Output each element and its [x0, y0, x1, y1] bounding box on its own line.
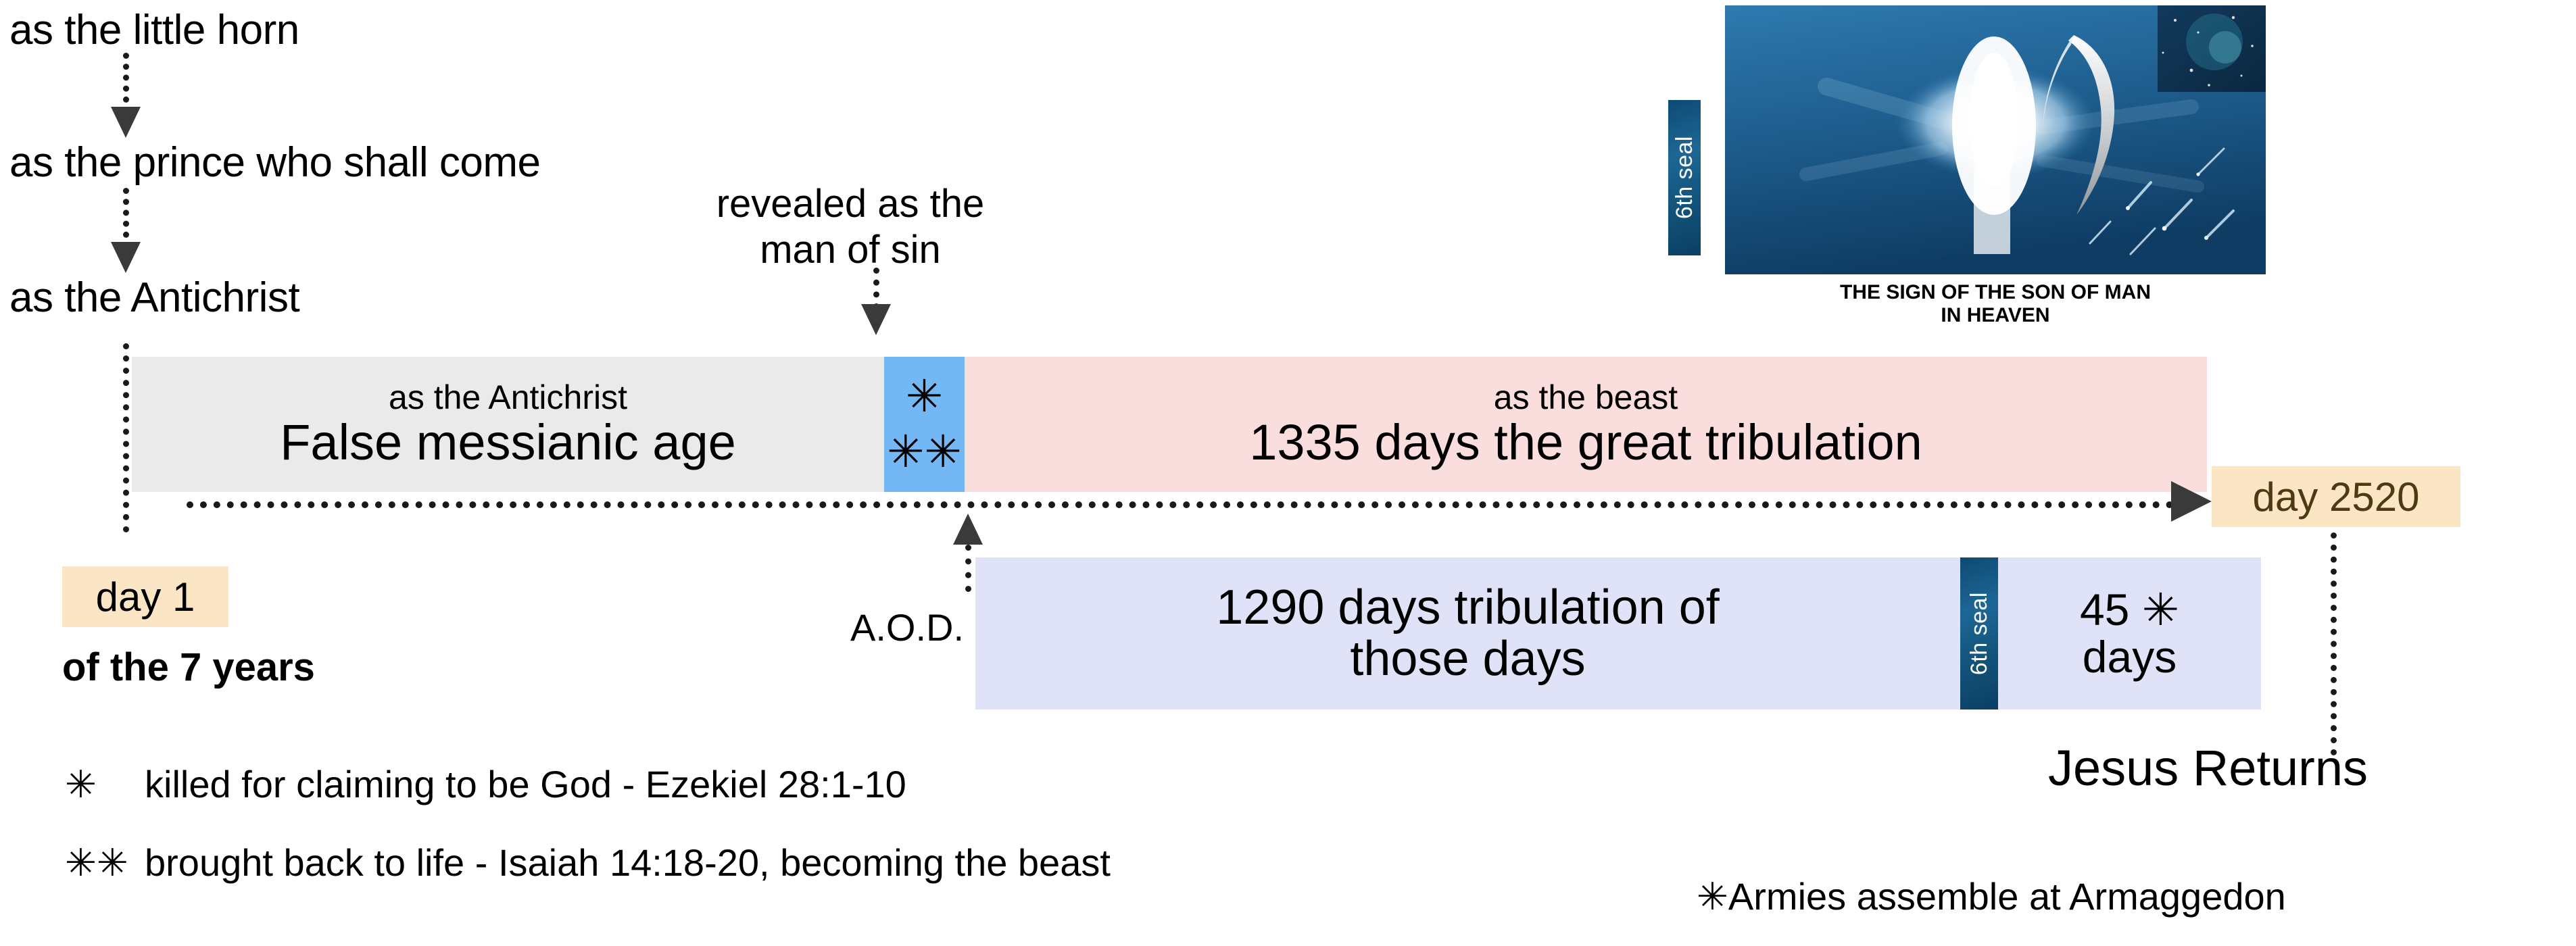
- day-1-caption: of the 7 years: [62, 647, 315, 689]
- label-prince-who-shall-come: as the prince who shall come: [9, 141, 541, 184]
- bar-pink-sublabel: as the beast: [1494, 380, 1678, 416]
- bar-45-days-line1: 45 ✳: [2080, 587, 2179, 633]
- label-antichrist: as the Antichrist: [9, 276, 299, 320]
- sign-image-caption-line2: IN HEAVEN: [1725, 303, 2266, 328]
- marker-asterisk-double: ✳✳: [887, 424, 962, 480]
- arrow-down-icon-3: [861, 304, 891, 335]
- bar-45-days-line2: days: [2083, 634, 2177, 680]
- bar-false-messianic-age: as the Antichrist False messianic age: [132, 357, 884, 492]
- connector-prince-to-antichrist: [123, 188, 129, 249]
- bar-pink-mainlabel: 1335 days the great tribulation: [1249, 416, 1922, 469]
- footnote-three: ✳ Armies assemble at Armaggedon: [1697, 877, 2286, 918]
- day-1-label: day 1: [96, 574, 195, 620]
- bar-grey-mainlabel: False messianic age: [280, 416, 736, 469]
- marker-asterisk-single: ✳: [906, 369, 943, 425]
- connector-horn-to-prince: [123, 53, 129, 114]
- footnote-three-mark: ✳: [1697, 878, 1728, 918]
- footnote-one: ✳ killed for claiming to be God - Ezekie…: [65, 765, 906, 805]
- seal-strip-image-label: 6th seal: [1668, 100, 1701, 255]
- footnote-three-text: Armies assemble at Armaggedon: [1728, 877, 2286, 917]
- bar-great-tribulation: as the beast 1335 days the great tribula…: [965, 357, 2207, 492]
- callout-revealed-line2: man of sin: [675, 230, 1026, 271]
- footnote-one-text: killed for claiming to be God - Ezekiel …: [145, 765, 906, 805]
- seal-strip-image-text: 6th seal: [1672, 136, 1698, 219]
- footnote-two: ✳✳ brought back to life - Isaiah 14:18-2…: [65, 843, 1111, 884]
- bar-lavender-line1: 1290 days tribulation of: [1216, 582, 1720, 634]
- label-jesus-returns: Jesus Returns: [2048, 742, 2368, 795]
- connector-antichrist-to-timeline: [123, 343, 129, 532]
- sign-image-caption-line1: THE SIGN OF THE SON OF MAN: [1725, 280, 2266, 305]
- timeline-arrow-right-icon: [2171, 481, 2212, 522]
- bar-1290-days-tribulation: 1290 days tribulation of those days 6th …: [975, 557, 2261, 709]
- connector-day2520-to-jesus-returns: [2331, 532, 2337, 755]
- connector-revealed-to-bar: [873, 268, 879, 309]
- footnote-one-mark: ✳: [65, 766, 145, 805]
- seal-strip-timeline-text: 6th seal: [1966, 592, 1993, 675]
- arrow-down-icon-2: [111, 242, 141, 273]
- arrow-up-icon: [953, 514, 983, 545]
- bar-lavender-line2: those days: [1350, 634, 1585, 685]
- timeline-dotted-axis: [187, 501, 2187, 508]
- sign-image-artwork: [1725, 5, 2266, 274]
- arrow-down-icon: [111, 107, 141, 138]
- day-1-badge: day 1: [62, 566, 228, 627]
- day-2520-badge: day 2520: [2212, 466, 2460, 527]
- seal-strip-timeline: 6th seal: [1960, 557, 1998, 709]
- connector-aod-to-timeline: [965, 545, 971, 592]
- sign-of-son-of-man-image: [1725, 5, 2266, 274]
- footnote-two-text: brought back to life - Isaiah 14:18-20, …: [145, 843, 1111, 883]
- day-2520-label: day 2520: [2253, 474, 2420, 520]
- marker-column-man-of-sin: ✳ ✳✳: [884, 357, 965, 492]
- label-little-horn: as the little horn: [9, 8, 299, 52]
- bar-grey-sublabel: as the Antichrist: [389, 380, 627, 416]
- callout-revealed-line1: revealed as the: [675, 184, 1026, 225]
- footnote-two-mark: ✳✳: [65, 844, 145, 884]
